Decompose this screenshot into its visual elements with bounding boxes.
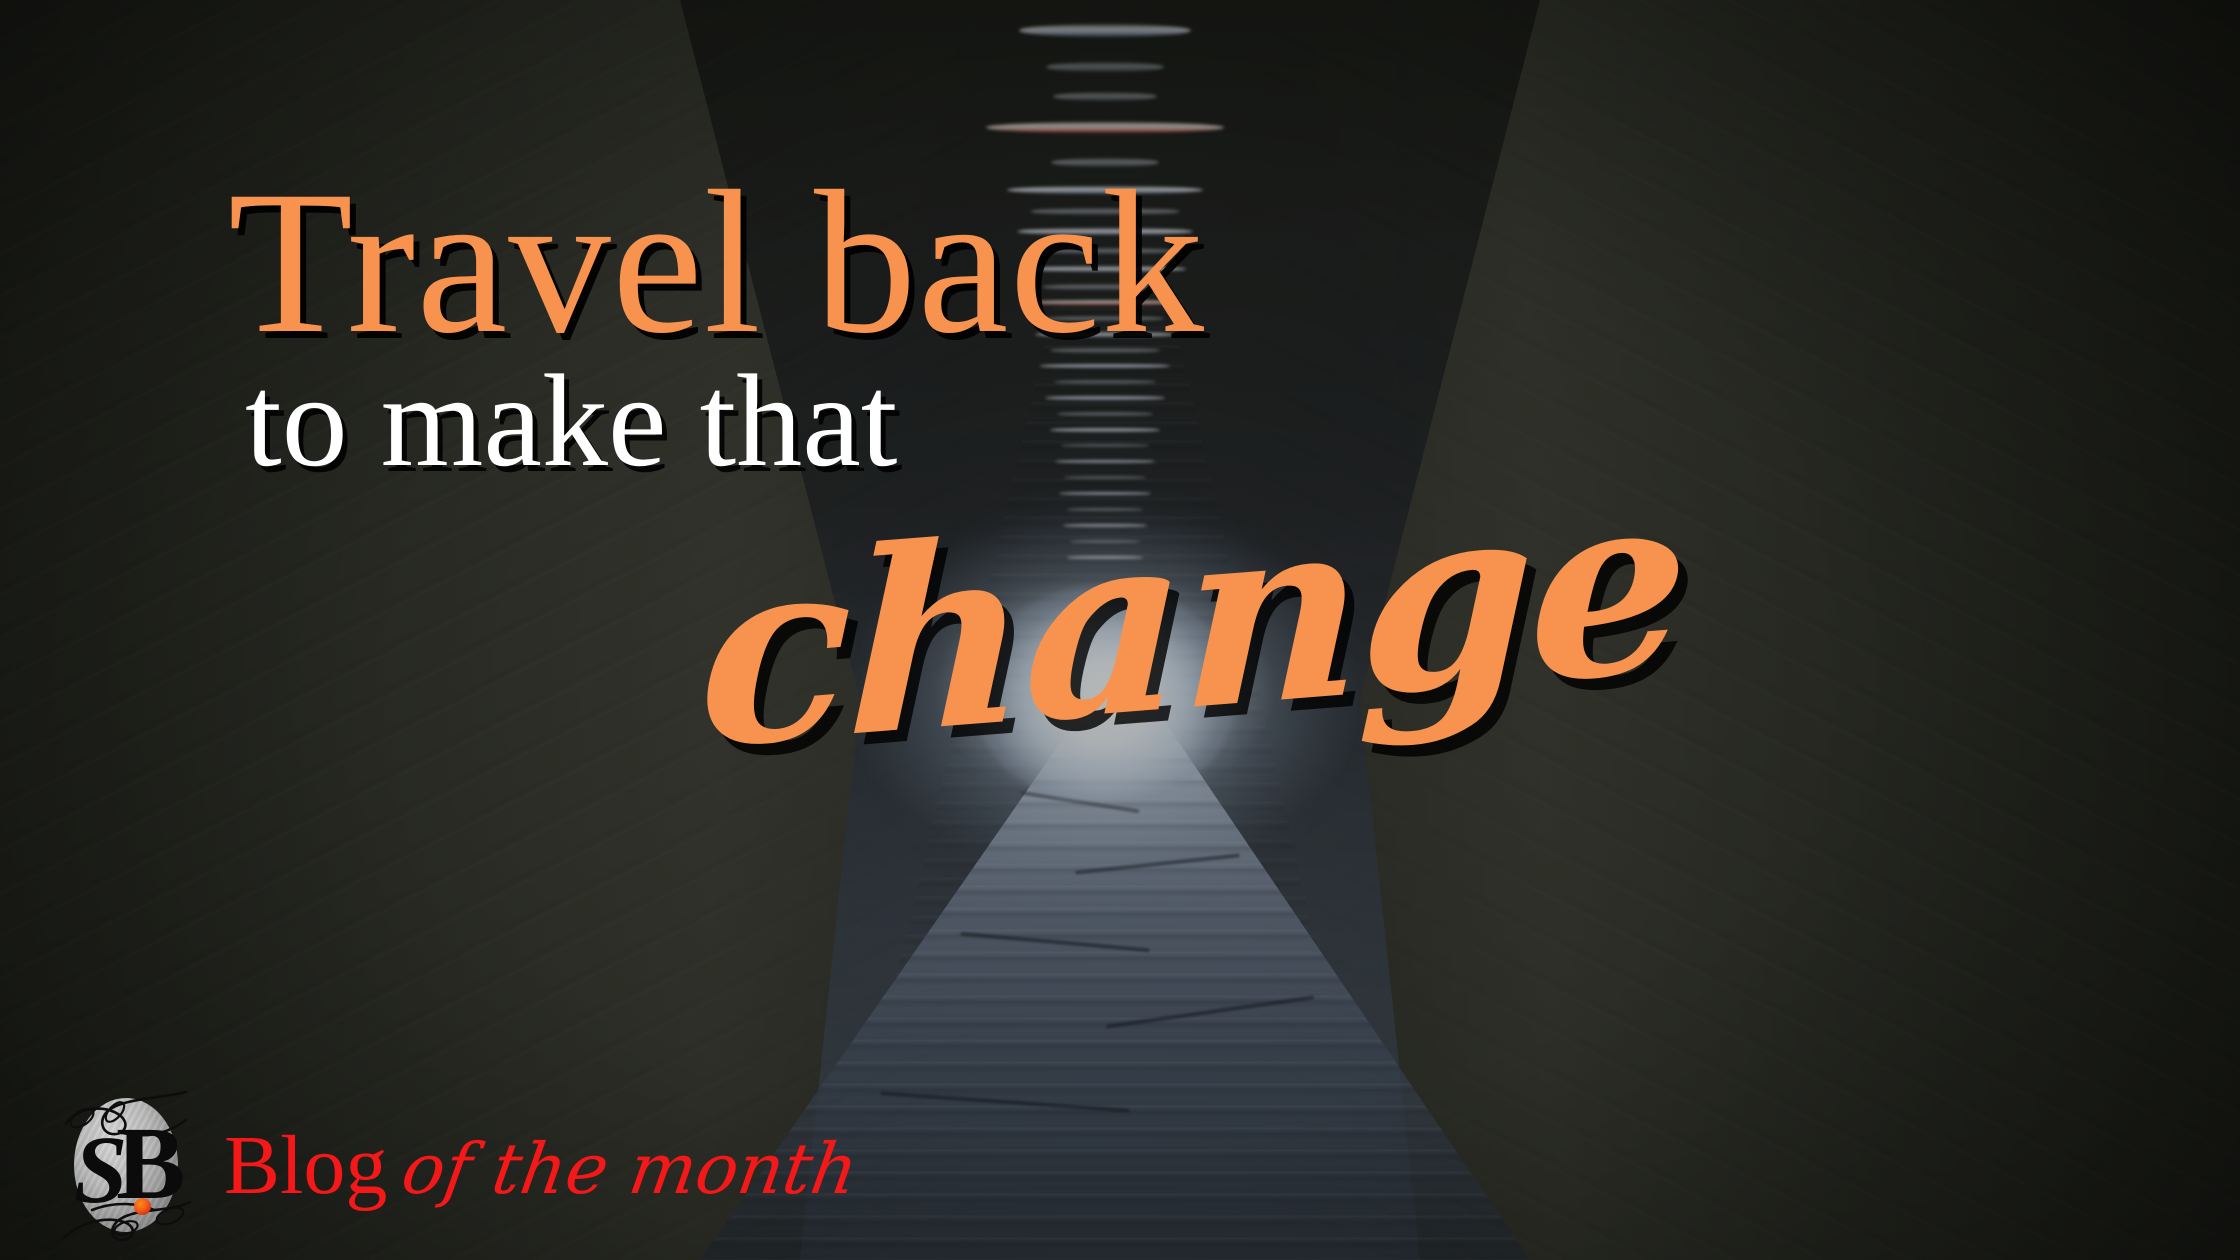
footer-of-the-month: of the month <box>398 1134 863 1204</box>
footer-blog-word: Blog <box>224 1124 387 1208</box>
headline-line-2: to make that <box>245 355 897 487</box>
poster-canvas: Travel back to make that change <box>0 0 2240 1260</box>
headline-block: Travel back <box>228 160 1205 365</box>
footer-branding: S B Blog of the month <box>58 1090 857 1242</box>
footer-text-group: Blog of the month <box>224 1124 857 1208</box>
sb-monogram-icon: S B <box>58 1090 194 1242</box>
text-overlay: Travel back to make that change <box>0 0 2240 1260</box>
headline-line-1: Travel back <box>228 160 1205 365</box>
logo-accent-dot <box>134 1198 151 1215</box>
sb-logo-badge[interactable]: S B <box>58 1090 194 1242</box>
